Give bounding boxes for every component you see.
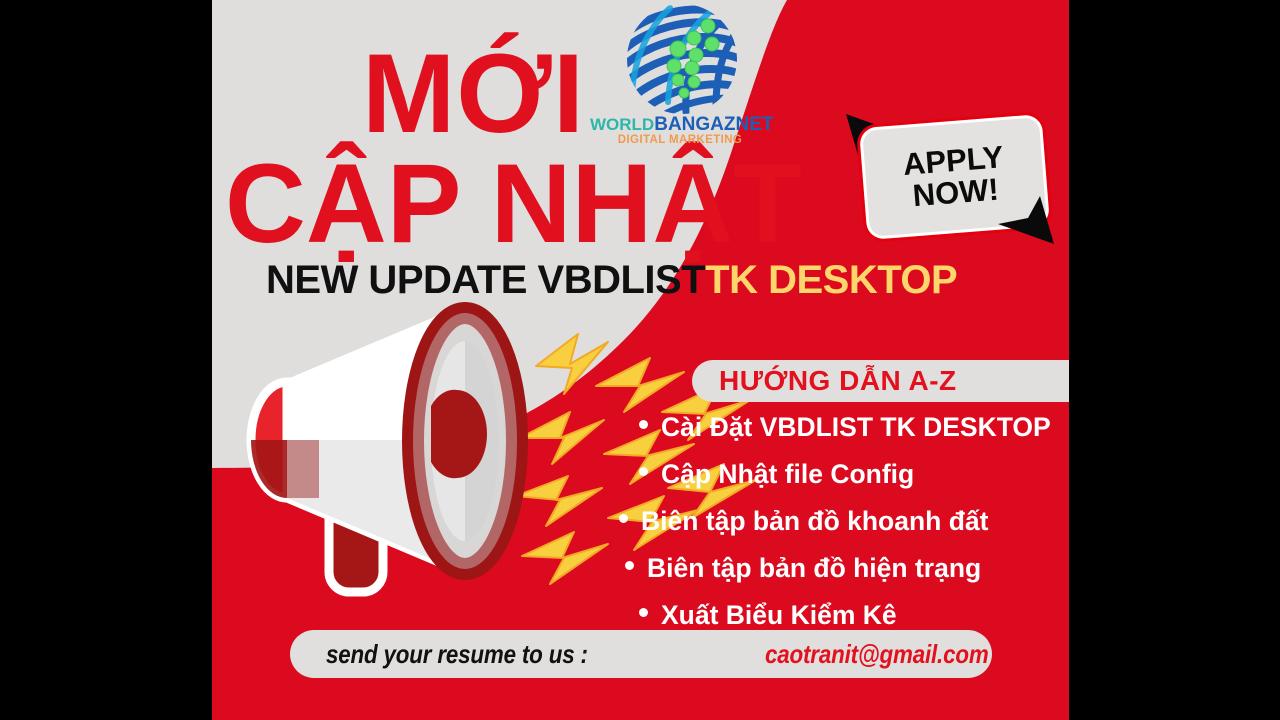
letterbox-bar-left: [0, 0, 212, 720]
bullet-dot-icon: [619, 514, 628, 523]
apply-now-badge[interactable]: APPLY NOW!: [842, 108, 1057, 248]
letterbox-bar-right: [1069, 0, 1280, 720]
logo-tagline: DIGITAL MARKETING: [590, 135, 770, 147]
subline-gold-part: TK DESKTOP: [705, 258, 957, 302]
contact-email[interactable]: caotranit@gmail.com: [765, 639, 989, 670]
poster-canvas: MỚI CẬP NHẬT NEW UPDATE VBDLISTTK DESKTO…: [212, 0, 1069, 720]
video-frame: MỚI CẬP NHẬT NEW UPDATE VBDLISTTK DESKTO…: [0, 0, 1280, 720]
headline-subline: NEW UPDATE VBDLISTTK DESKTOP: [266, 260, 957, 300]
logo-world-text: WORLD: [590, 115, 654, 134]
guide-banner-title: HƯỚNG DẪN A-Z: [719, 365, 957, 397]
logo-wordmark: WORLDBANGAZNET DIGITAL MARKETING: [590, 115, 770, 147]
bullet-dot-icon: [639, 608, 648, 617]
globe-network-icon: [612, 2, 752, 120]
contact-bar: send your resume to us : caotranit@gmail…: [290, 630, 992, 678]
subline-black-part: NEW UPDATE VBDLIST: [266, 258, 705, 302]
bullet-dot-icon: [639, 420, 648, 429]
list-item-label: Biên tập bản đồ khoanh đất: [641, 507, 988, 536]
brand-logo: WORLDBANGAZNET DIGITAL MARKETING: [590, 2, 770, 157]
headline-line-2: CẬP NHẬT: [225, 148, 802, 260]
logo-name-row: WORLDBANGAZNET: [590, 115, 770, 134]
arrow-cursor-icon: [994, 196, 1056, 246]
logo-brand-text: BANGAZNET: [654, 114, 773, 135]
bullet-dot-icon: [639, 467, 648, 476]
list-item: Cài Đặt VBDLIST TK DESKTOP: [639, 413, 1069, 454]
headline-line-1: MỚI: [362, 38, 585, 150]
feature-list: Cài Đặt VBDLIST TK DESKTOP Cập Nhật file…: [615, 413, 1069, 648]
list-item-label: Cài Đặt VBDLIST TK DESKTOP: [661, 413, 1051, 442]
guide-banner: HƯỚNG DẪN A-Z: [692, 360, 1069, 402]
list-item: Cập Nhật file Config: [639, 460, 1069, 501]
apply-now-line-2: NOW!: [912, 174, 1000, 212]
list-item-label: Biên tập bản đồ hiện trạng: [647, 554, 981, 583]
list-item: Biên tập bản đồ khoanh đất: [619, 507, 1069, 548]
list-item: Biên tập bản đồ hiện trạng: [625, 554, 1069, 595]
bullet-dot-icon: [625, 561, 634, 570]
contact-label: send your resume to us :: [326, 639, 588, 670]
list-item-label: Cập Nhật file Config: [661, 460, 914, 489]
megaphone-icon: [217, 300, 637, 640]
list-item-label: Xuất Biểu Kiểm Kê: [661, 601, 897, 630]
